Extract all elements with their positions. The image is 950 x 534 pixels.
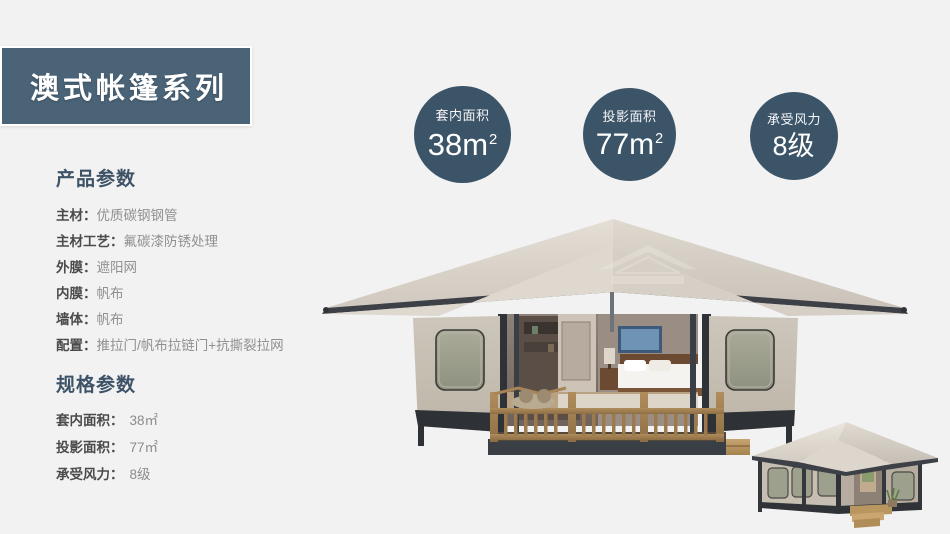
- badge-projected-area: 投影面积 77m2: [583, 88, 676, 181]
- param-label: 配置：: [56, 338, 97, 353]
- badge-unit: m: [629, 128, 654, 161]
- param-row: 外膜：遮阳网: [56, 255, 356, 281]
- badge-caption: 套内面积: [435, 109, 489, 122]
- title-banner: 澳式帐篷系列: [0, 46, 252, 126]
- badge-caption: 投影面积: [602, 110, 656, 123]
- param-value: 帆布: [97, 286, 124, 301]
- spec-row: 套内面积：38㎡: [56, 407, 356, 434]
- product-parameters-heading: 产品参数: [56, 164, 356, 191]
- param-label: 主材：: [56, 208, 97, 223]
- spec-value: 8级: [124, 467, 151, 482]
- param-row: 主材：优质碳钢钢管: [56, 203, 356, 229]
- param-value: 氟碳漆防锈处理: [124, 234, 219, 249]
- param-value: 遮阳网: [97, 260, 138, 275]
- badge-value: 8级: [772, 133, 815, 160]
- spec-label: 套内面积：: [56, 413, 124, 428]
- badge-value: 77m2: [596, 130, 663, 160]
- badge-unit: m: [462, 127, 488, 162]
- spec-parameters-heading: 规格参数: [56, 370, 356, 397]
- product-parameters-panel: 产品参数 主材：优质碳钢钢管 主材工艺：氟碳漆防锈处理 外膜：遮阳网 内膜：帆布…: [56, 164, 356, 359]
- spec-parameters-panel: 规格参数 套内面积：38㎡ 投影面积：77㎡ 承受风力：8级: [56, 370, 356, 488]
- brand-watermark-icon: [588, 243, 708, 291]
- param-row: 墙体：帆布: [56, 307, 356, 333]
- param-row: 内膜：帆布: [56, 281, 356, 307]
- spec-row: 投影面积：77㎡: [56, 434, 356, 461]
- badge-number: 77: [596, 128, 629, 161]
- param-row: 配置：推拉门/帆布拉链门+抗撕裂拉网: [56, 333, 356, 359]
- badge-value: 38m2: [428, 129, 498, 160]
- badge-superscript: 2: [655, 131, 663, 147]
- badge-number: 38: [428, 127, 462, 162]
- spec-value: 77㎡: [124, 440, 159, 455]
- secondary-tent-image: [742, 414, 950, 534]
- param-label: 墙体：: [56, 312, 97, 327]
- spec-row: 承受风力：8级: [56, 461, 356, 488]
- page-title: 澳式帐篷系列: [24, 65, 228, 107]
- param-label: 外膜：: [56, 260, 97, 275]
- param-value: 优质碳钢钢管: [97, 208, 178, 223]
- param-row: 主材工艺：氟碳漆防锈处理: [56, 229, 356, 255]
- slide-root: 澳式帐篷系列 产品参数 主材：优质碳钢钢管 主材工艺：氟碳漆防锈处理 外膜：遮阳…: [0, 0, 950, 534]
- param-value: 帆布: [97, 312, 124, 327]
- badge-caption: 承受风力: [767, 113, 821, 126]
- param-value: 推拉门/帆布拉链门+抗撕裂拉网: [97, 338, 284, 353]
- spec-label: 承受风力：: [56, 467, 124, 482]
- badge-superscript: 2: [489, 132, 497, 148]
- param-label: 内膜：: [56, 286, 97, 301]
- spec-value: 38㎡: [124, 413, 159, 428]
- param-label: 主材工艺：: [56, 234, 124, 249]
- spec-label: 投影面积：: [56, 440, 124, 455]
- badge-wind-resistance: 承受风力 8级: [750, 92, 838, 180]
- badge-number: 8级: [772, 131, 814, 161]
- badge-interior-area: 套内面积 38m2: [414, 86, 511, 183]
